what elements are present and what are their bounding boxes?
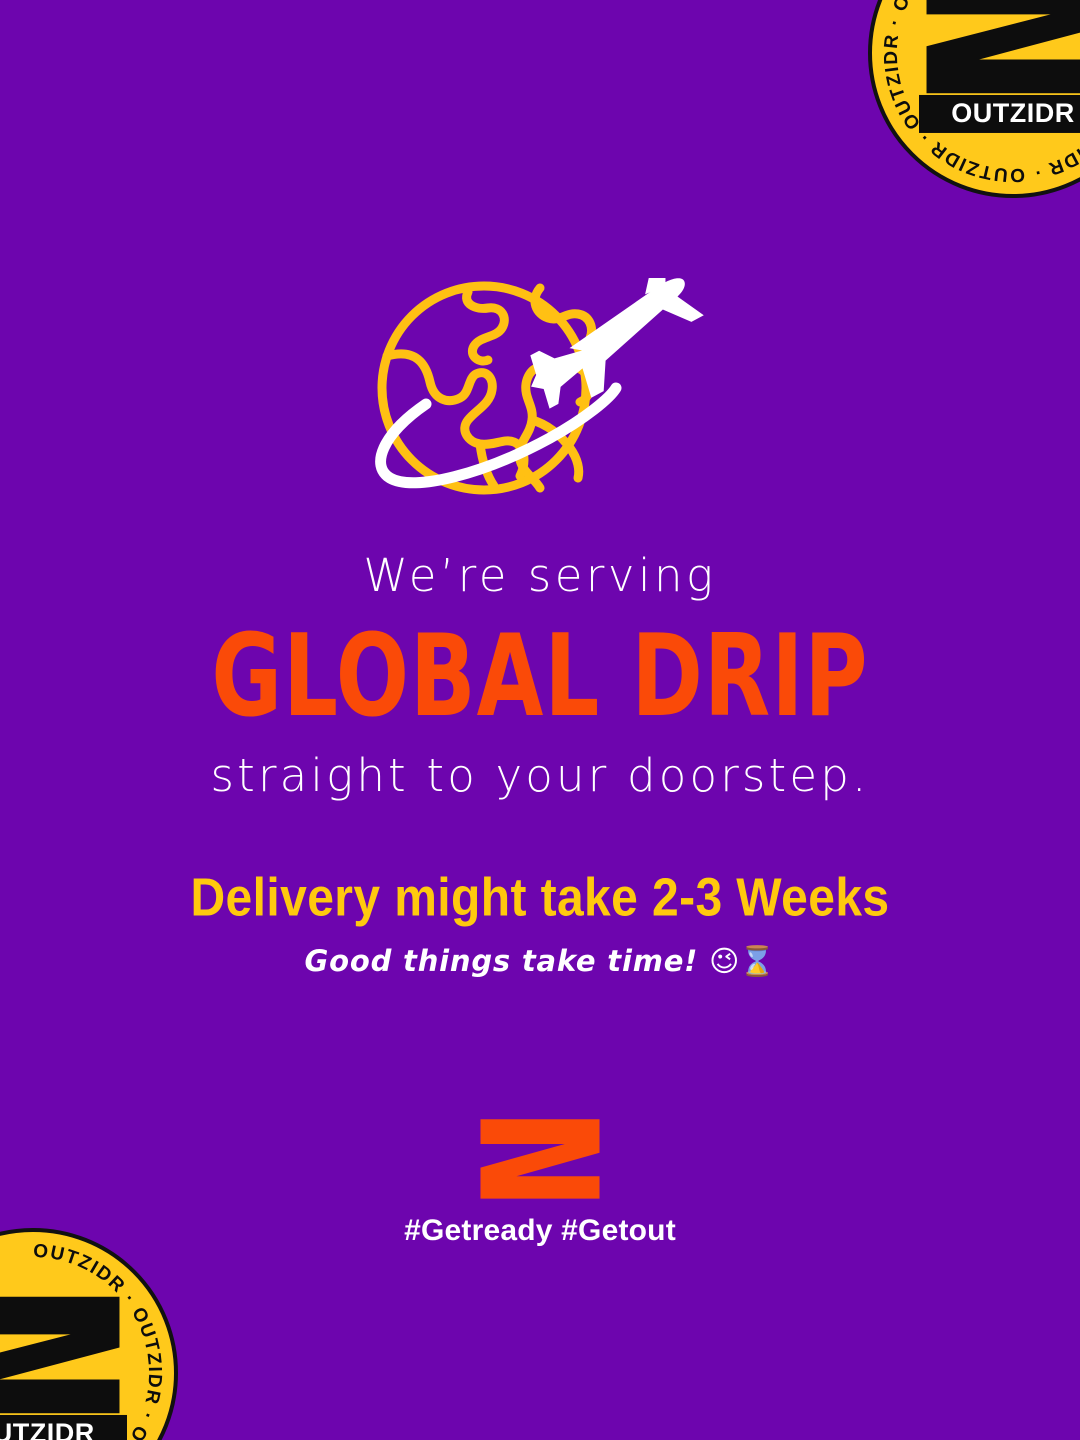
intro-line: We’re serving: [0, 548, 1080, 604]
badge-center-lockup-bottom-left: OUTZIDR: [0, 1293, 127, 1440]
footer-lockup: #Getready #Getout: [0, 1118, 1080, 1248]
badge-wordmark-bar: OUTZIDR: [0, 1415, 127, 1440]
headline: GLOBAL DRIP: [0, 610, 1080, 744]
badge-wordmark-bar: OUTZIDR: [919, 95, 1080, 133]
globe-airplane-illustration: [364, 278, 716, 510]
delivery-subtitle: Good things take time! 😉⌛: [0, 944, 1080, 979]
poster-canvas: OUTZIDR · OUTZIDR · OUTZIDR · OUTZIDR · …: [0, 0, 1080, 1440]
badge-wordmark-text: OUTZIDR: [0, 1418, 95, 1440]
copy-block: We’re serving GLOBAL DRIP straight to yo…: [0, 548, 1080, 979]
supporting-line: straight to your doorstep.: [0, 748, 1080, 804]
outzidr-z-logomark-icon: [478, 1118, 602, 1200]
subtitle-emoji: 😉⌛: [709, 944, 775, 978]
delivery-notice: Delivery might take 2-3 Weeks: [0, 866, 1080, 931]
badge-wordmark-text: OUTZIDR: [951, 98, 1074, 128]
z-logomark-icon: [919, 0, 1080, 97]
badge-center-lockup-top-right: OUTZIDR: [919, 0, 1080, 133]
outzidr-badge-bottom-left: OUTZIDR · OUTZIDR · OUTZIDR · OUTZIDR · …: [0, 1228, 178, 1440]
z-logomark-icon: [0, 1293, 127, 1417]
outzidr-badge-top-right: OUTZIDR · OUTZIDR · OUTZIDR · OUTZIDR · …: [868, 0, 1080, 198]
delivery-subtitle-text: Good things take time!: [305, 944, 699, 978]
